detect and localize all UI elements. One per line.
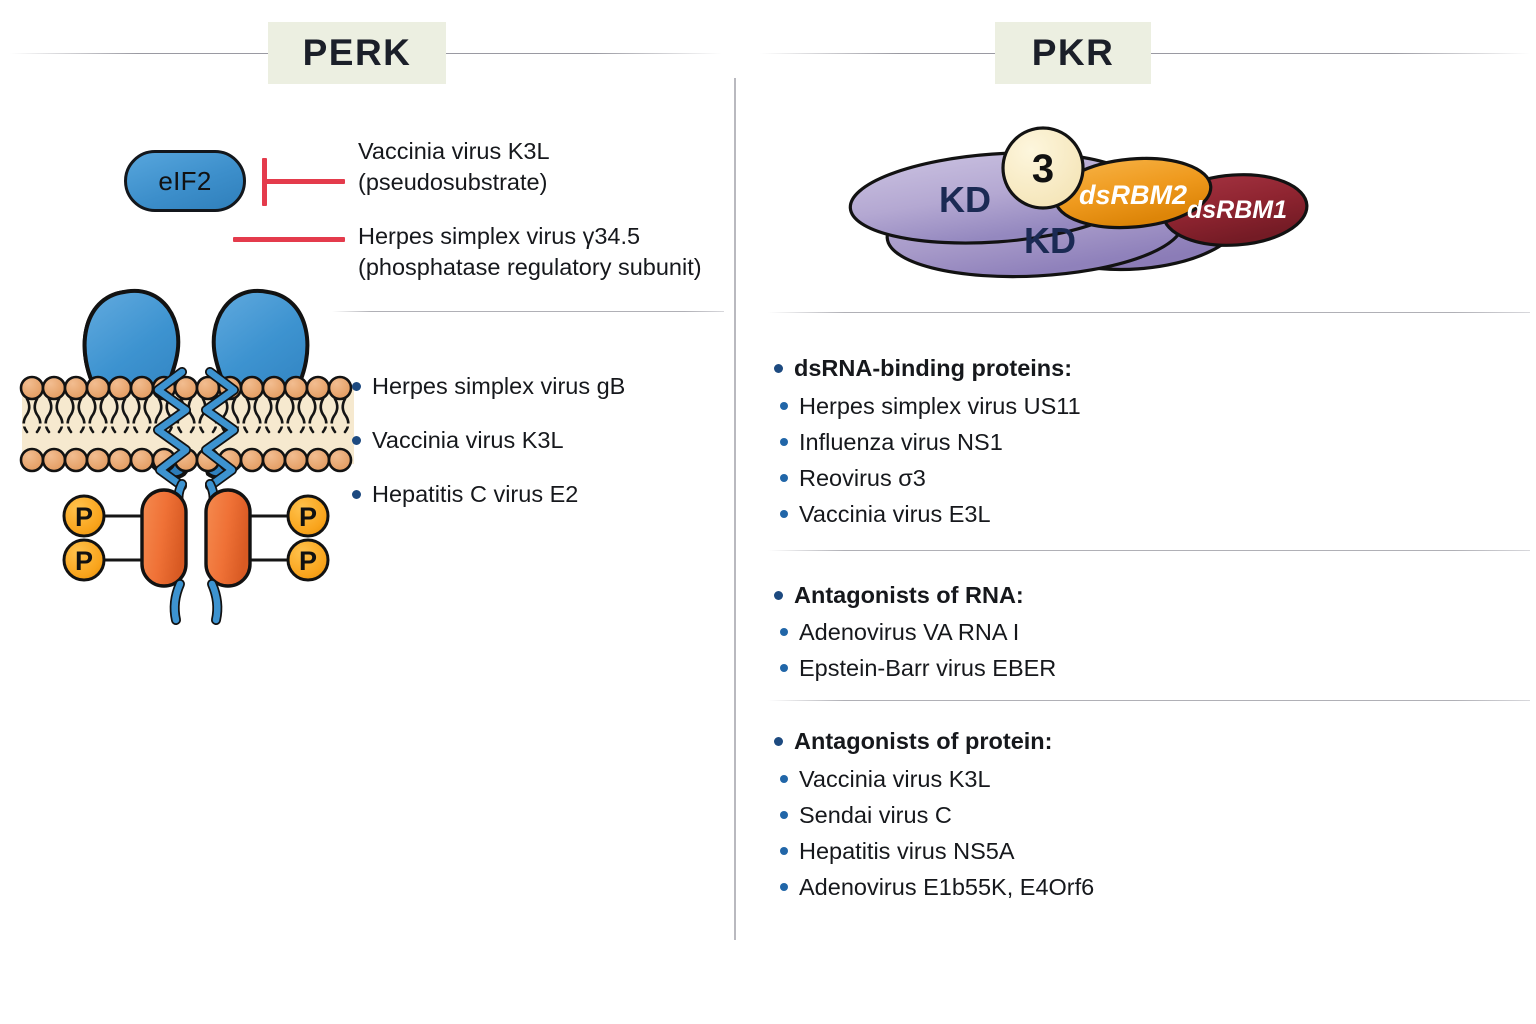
pkr-panel-title: PKR [1032,32,1115,74]
list-item: Vaccinia virus K3L [780,766,991,792]
list-item: Herpes simplex virus US11 [780,393,1081,419]
inhibition-line-1 [262,179,345,184]
bullet-dot-icon [774,591,783,600]
phosphate-connectors [102,516,290,560]
bullet-dot-icon [352,490,361,499]
perk-bullet-0: Herpes simplex virus gB [372,373,625,399]
pkr-section-rule-2 [768,700,1530,701]
list-item: Antagonists of RNA: [774,582,1024,608]
list-item: Vaccinia virus E3L [780,501,991,527]
list-item: Influenza virus NS1 [780,429,1003,455]
svg-text:P: P [75,546,93,576]
perk-title-chip: PERK [268,22,446,84]
pkr-sigma3-label: 3 [1032,147,1054,191]
pkr-section-2-item-2: Hepatitis virus NS5A [799,838,1015,864]
bullet-dot-icon [352,382,361,391]
pkr-section-0-item-1: Influenza virus NS1 [799,429,1003,455]
pkr-section-0-heading: dsRNA-binding proteins: [794,355,1072,381]
inhibitor-1-line-1: Vaccinia virus K3L [358,136,550,167]
pkr-section-1-item-0: Adenovirus VA RNA I [799,619,1019,645]
figure-canvas: PERK PKR eIF2 Vaccinia virus K3L (pseudo… [0,0,1536,1024]
pkr-section-2-item-0: Vaccinia virus K3L [799,766,991,792]
bullet-dot-icon [780,402,788,410]
pkr-section-2-item-1: Sendai virus C [799,802,952,828]
list-item: Reovirus σ3 [780,465,926,491]
panel-divider [734,78,736,940]
bullet-dot-icon [774,737,783,746]
bullet-dot-icon [352,436,361,445]
kinase-domain-right [206,490,250,586]
svg-text:P: P [75,502,93,532]
pkr-section-1-heading: Antagonists of RNA: [794,582,1024,608]
bullet-dot-icon [780,510,788,518]
list-item: Sendai virus C [780,802,952,828]
pkr-section-rule-1 [768,550,1530,551]
pkr-section-0-item-2: Reovirus σ3 [799,465,926,491]
pkr-section-2-item-3: Adenovirus E1b55K, E4Orf6 [799,874,1094,900]
perk-receptor-membrane-diagram: P P P P [16,268,376,628]
pkr-panel-header: PKR [760,22,1530,84]
list-item: Herpes simplex virus gB [352,373,625,399]
bullet-dot-icon [780,474,788,482]
phosphate-group-right-bottom: P [288,540,328,580]
perk-section-rule [332,311,724,312]
lipid-bilayer [21,377,354,471]
bullet-dot-icon [780,438,788,446]
eif2-label: eIF2 [158,166,211,197]
pkr-section-0-item-3: Vaccinia virus E3L [799,501,991,527]
pkr-section-rule-0 [768,312,1530,313]
pkr-kd-upper-label: KD [939,179,991,220]
perk-panel-header: PERK [10,22,722,84]
pkr-protein-complex-diagram: KD KD 3 dsRBM2 dsRBM1 [845,120,1325,300]
bullet-dot-icon [774,364,783,373]
lipid-heads-upper [21,377,351,399]
list-item: Hepatitis virus NS5A [780,838,1015,864]
pkr-title-chip: PKR [995,22,1151,84]
perk-panel-title: PERK [303,32,412,74]
pkr-section-2-heading: Antagonists of protein: [794,728,1052,754]
bullet-dot-icon [780,883,788,891]
phosphate-group-left-top: P [64,496,104,536]
list-item: Adenovirus VA RNA I [780,619,1019,645]
pkr-dsrbm2-label: dsRBM2 [1079,180,1187,210]
inhibitor-2-line-2: (phosphatase regulatory subunit) [358,252,702,283]
list-item: Vaccinia virus K3L [352,427,564,453]
perk-bullet-1: Vaccinia virus K3L [372,427,564,453]
phosphate-group-left-bottom: P [64,540,104,580]
kinase-domain-left [142,490,186,586]
pkr-dsrbm1-label: dsRBM1 [1187,196,1287,224]
inhibitor-1-line-2: (pseudosubstrate) [358,167,547,198]
bullet-dot-icon [780,628,788,636]
bullet-dot-icon [780,811,788,819]
phosphate-group-right-top: P [288,496,328,536]
inhibition-line-2 [233,237,345,242]
inhibitor-2-line-1: Herpes simplex virus γ34.5 [358,221,640,252]
pkr-section-0-item-0: Herpes simplex virus US11 [799,393,1081,419]
bullet-dot-icon [780,775,788,783]
bullet-dot-icon [780,664,788,672]
pkr-kd-lower-label: KD [1024,220,1076,261]
svg-text:P: P [299,502,317,532]
list-item: Antagonists of protein: [774,728,1052,754]
perk-bullet-2: Hepatitis C virus E2 [372,481,578,507]
bullet-dot-icon [780,847,788,855]
list-item: dsRNA-binding proteins: [774,355,1072,381]
list-item: Hepatitis C virus E2 [352,481,578,507]
list-item: Adenovirus E1b55K, E4Orf6 [780,874,1094,900]
eif2-protein-shape: eIF2 [124,150,246,212]
list-item: Epstein-Barr virus EBER [780,655,1056,681]
svg-text:P: P [299,546,317,576]
pkr-section-1-item-1: Epstein-Barr virus EBER [799,655,1056,681]
